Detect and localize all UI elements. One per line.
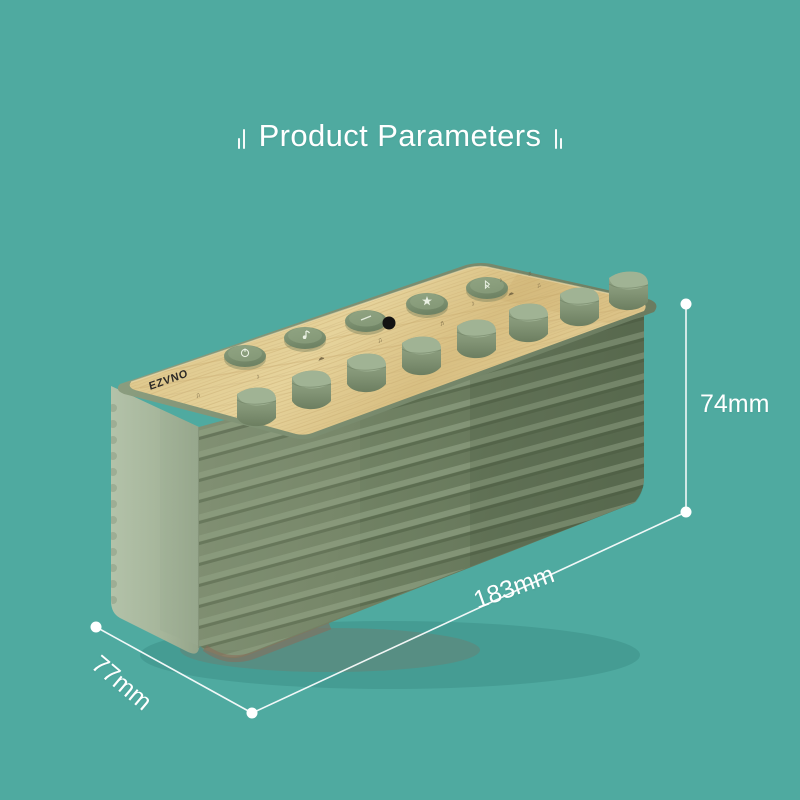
product-parameters-image: Product Parameters bbox=[0, 0, 800, 800]
power-button bbox=[224, 345, 266, 370]
microphone-dot bbox=[383, 317, 396, 330]
wedge-key-7 bbox=[560, 288, 599, 327]
mode-button bbox=[345, 310, 387, 335]
wedge-key-5 bbox=[457, 320, 496, 359]
wedge-key-3 bbox=[347, 354, 386, 393]
bluetooth-button bbox=[406, 293, 448, 318]
wedge-key-6 bbox=[509, 304, 548, 343]
wedge-key-2 bbox=[292, 371, 331, 410]
wedge-key-1 bbox=[237, 388, 276, 427]
music-button bbox=[284, 327, 326, 352]
wedge-key-4 bbox=[402, 337, 441, 376]
height-dimension-label: 74mm bbox=[700, 390, 769, 419]
